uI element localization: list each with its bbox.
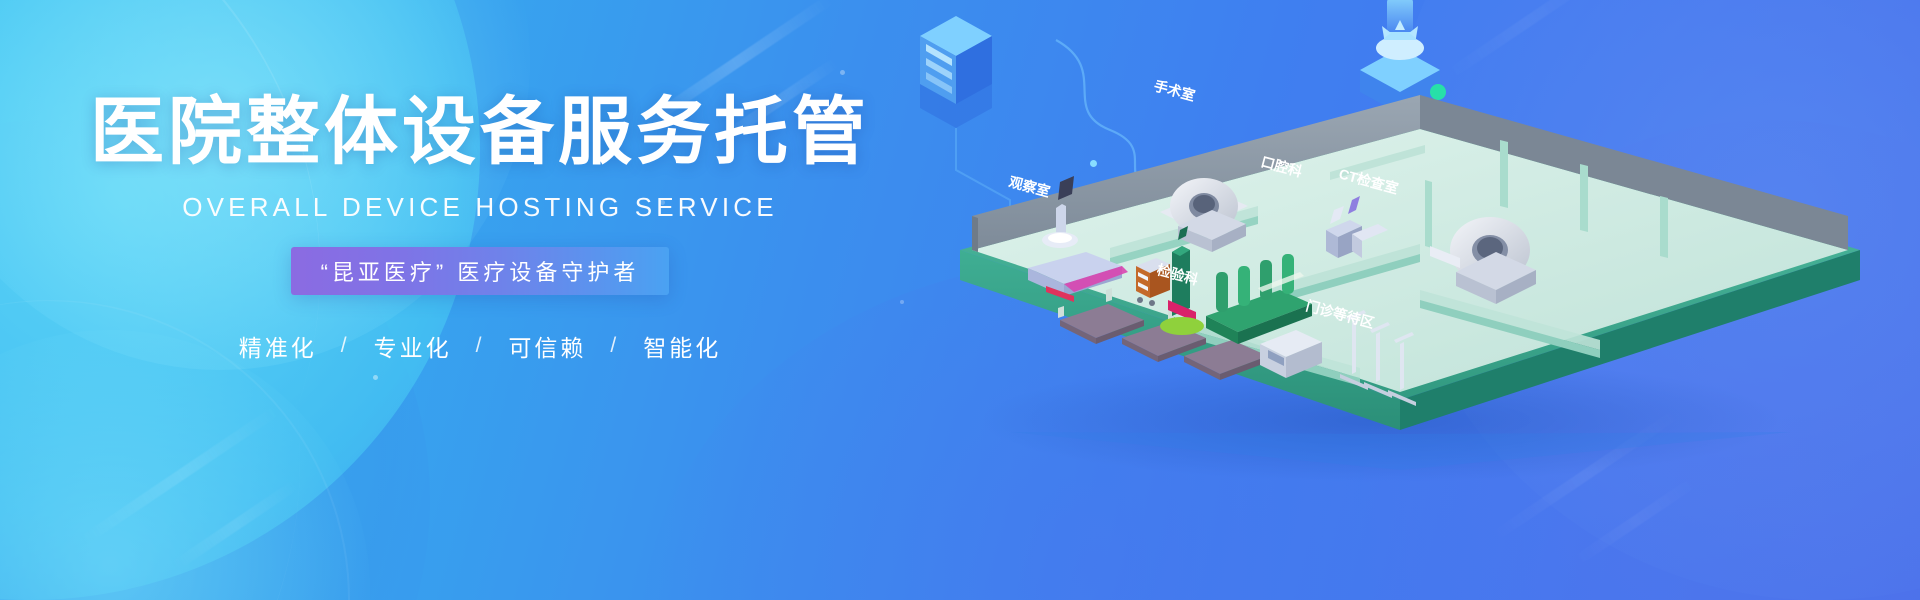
tagline-item-1: 精准化: [221, 329, 335, 363]
tagline-item-3: 可信赖: [490, 329, 604, 363]
banner-subtitle: OVERALL DEVICE HOSTING SERVICE: [0, 192, 960, 223]
banner-slogan-badge: “昆亚医疗” 医疗设备守护者: [291, 247, 670, 295]
banner-title: 医院整体设备服务托管: [0, 96, 960, 170]
tagline-separator-2: /: [470, 334, 491, 358]
room-label-operating: 手术室: [1152, 77, 1197, 103]
banner-copy-block: 医院整体设备服务托管 OVERALL DEVICE HOSTING SERVIC…: [0, 96, 960, 363]
tagline-item-4: 智能化: [625, 329, 739, 363]
tagline-separator-3: /: [604, 334, 625, 358]
room-label-observation: 观察室: [1007, 173, 1052, 199]
hospital-illustration: 手术室 口腔科: [860, 0, 1920, 600]
gear-icon: [1360, 0, 1446, 114]
tagline-separator-1: /: [335, 334, 356, 358]
bg-dot-2: [373, 375, 378, 380]
tagline-item-2: 专业化: [356, 329, 470, 363]
hospital-hosting-banner: 医院整体设备服务托管 OVERALL DEVICE HOSTING SERVIC…: [0, 0, 1920, 600]
banner-badge-wrap: “昆亚医疗” 医疗设备守护者: [0, 247, 960, 295]
bg-dot-4: [840, 70, 845, 75]
banner-tagline: 精准化 / 专业化 / 可信赖 / 智能化: [0, 329, 960, 363]
